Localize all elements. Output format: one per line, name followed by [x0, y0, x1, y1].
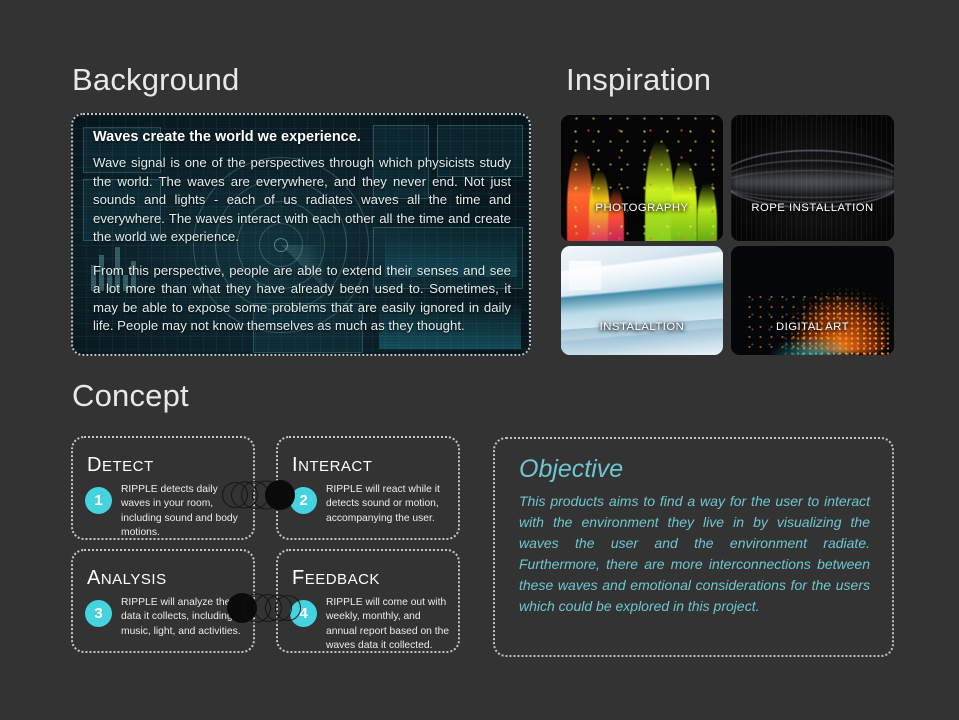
objective-title: Objective — [519, 455, 870, 484]
objective-card: Objective This products aims to find a w… — [493, 437, 894, 657]
concept-card-title: Feedback — [292, 559, 458, 592]
inspiration-thumb-digital-art[interactable]: DIGITAL ART — [731, 246, 894, 355]
concept-card-text: RIPPLE will react while it detects sound… — [326, 483, 458, 526]
concept-card-body: 2 RIPPLE will react while it detects sou… — [290, 483, 458, 526]
concept-card-badge: 3 — [85, 600, 112, 627]
orange-particle-mound-art — [731, 246, 894, 355]
background-paragraph-2: From this perspective, people are able t… — [93, 262, 511, 336]
concept-card-interact[interactable]: Interact 2 RIPPLE will react while it de… — [276, 436, 460, 540]
concept-card-body: 4 RIPPLE will come out with weekly, mont… — [290, 596, 458, 653]
background-card: Waves create the world we experience. Wa… — [71, 113, 531, 356]
background-paragraph-1: Wave signal is one of the perspectives t… — [93, 154, 511, 247]
ice-glass-corridor-art — [561, 246, 723, 355]
inspiration-thumb-label: PHOTOGRAPHY — [561, 202, 723, 214]
concept-card-text: RIPPLE will come out with weekly, monthl… — [326, 596, 458, 653]
concept-card-title: Detect — [87, 446, 253, 479]
section-title-concept: Concept — [72, 378, 189, 414]
background-card-content: Waves create the world we experience. Wa… — [73, 115, 529, 354]
concept-card-title: Interact — [292, 446, 458, 479]
light-wave-strands-art — [731, 115, 894, 241]
background-card-heading: Waves create the world we experience. — [93, 129, 511, 145]
ripple-connector-icon — [222, 478, 302, 512]
objective-text: This products aims to find a way for the… — [519, 491, 870, 617]
concept-card-feedback[interactable]: Feedback 4 RIPPLE will come out with wee… — [276, 549, 460, 653]
ripple-connector-icon — [222, 591, 302, 625]
concept-card-title: Analysis — [87, 559, 253, 592]
presentation-slide: Background Inspiration Concept — [0, 0, 959, 720]
inspiration-thumb-label: INSTALALTION — [561, 321, 723, 333]
inspiration-thumb-label: ROPE INSTALLATION — [731, 202, 894, 214]
inspiration-thumb-rope-installation[interactable]: ROPE INSTALLATION — [731, 115, 894, 241]
paint-splatter-art — [561, 115, 723, 241]
concept-card-badge: 1 — [85, 487, 112, 514]
section-title-background: Background — [72, 62, 239, 98]
inspiration-thumb-photography[interactable]: PHOTOGRAPHY — [561, 115, 723, 241]
inspiration-thumb-instalaltion[interactable]: INSTALALTION — [561, 246, 723, 355]
section-title-inspiration: Inspiration — [566, 62, 711, 98]
inspiration-thumb-label: DIGITAL ART — [731, 321, 894, 333]
